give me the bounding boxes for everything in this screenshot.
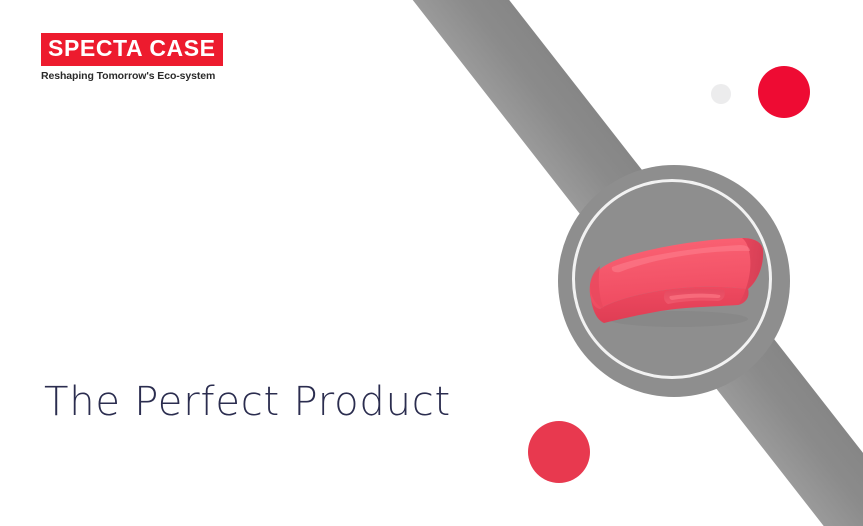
eyeglass-case-image xyxy=(582,227,768,331)
logo-banner: SPECTA CASE xyxy=(41,33,223,66)
logo-wordmark: SPECTA CASE xyxy=(48,36,216,61)
brand-logo: SPECTA CASE Reshaping Tomorrow's Eco-sys… xyxy=(41,33,223,83)
logo-tagline: Reshaping Tomorrow's Eco-system xyxy=(41,70,223,83)
red-accent-dot-bottom xyxy=(528,421,590,483)
slide-headline: The Perfect Product xyxy=(44,379,451,425)
presentation-slide: SPECTA CASE Reshaping Tomorrow's Eco-sys… xyxy=(0,0,863,526)
gray-accent-dot xyxy=(711,84,731,104)
product-medallion xyxy=(558,165,790,397)
red-accent-dot-top xyxy=(758,66,810,118)
